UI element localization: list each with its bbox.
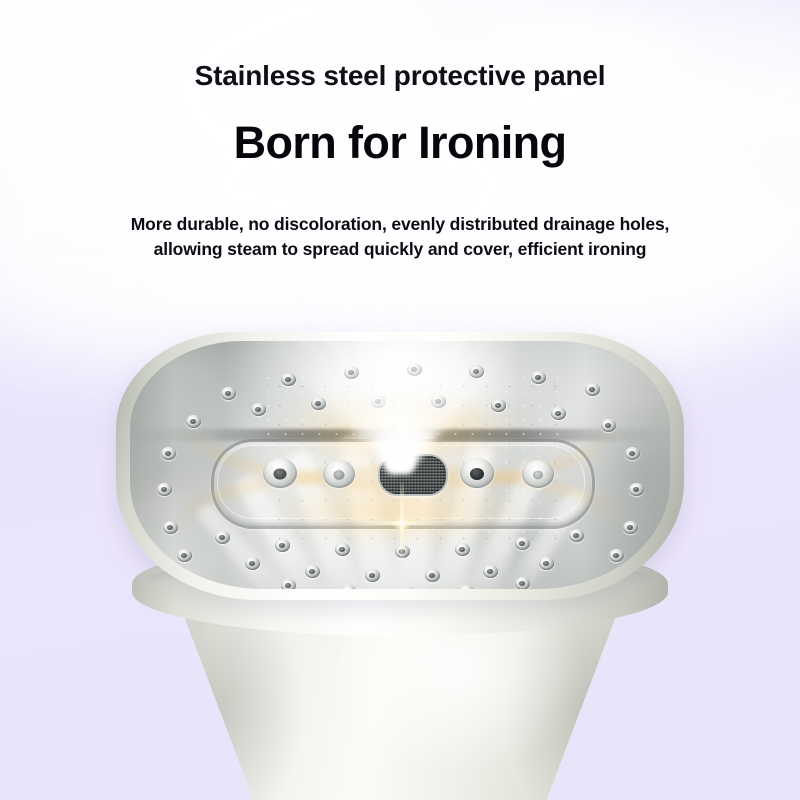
center-steam-vent bbox=[378, 454, 448, 496]
steam-hole bbox=[157, 483, 172, 496]
steam-hole bbox=[311, 397, 326, 410]
steam-hole bbox=[609, 549, 624, 562]
steam-hole bbox=[395, 545, 410, 558]
center-vent-hole bbox=[323, 460, 355, 488]
page-description: More durable, no discoloration, evenly d… bbox=[0, 212, 800, 262]
page-eyebrow-title: Stainless steel protective panel bbox=[0, 60, 800, 92]
steam-hole bbox=[425, 569, 440, 582]
steam-hole bbox=[177, 549, 192, 562]
steam-hole bbox=[245, 557, 260, 570]
steam-hole bbox=[455, 543, 470, 556]
steam-hole bbox=[281, 579, 296, 590]
center-vent-hole bbox=[263, 458, 297, 488]
steam-hole bbox=[515, 537, 530, 550]
steam-hole bbox=[281, 373, 296, 386]
stainless-steel-soleplate bbox=[130, 341, 670, 589]
page-title: Born for Ironing bbox=[0, 117, 800, 169]
center-vent-hole bbox=[460, 458, 494, 488]
steam-hole bbox=[483, 565, 498, 578]
steam-hole bbox=[469, 365, 484, 378]
center-steam-vent-mesh bbox=[380, 456, 446, 494]
steam-hole bbox=[221, 387, 236, 400]
steam-hole bbox=[515, 577, 530, 590]
steam-hole bbox=[335, 543, 350, 556]
steam-hole bbox=[251, 403, 266, 416]
center-vent-hole bbox=[522, 460, 554, 488]
steam-hole bbox=[601, 419, 616, 432]
steam-hole bbox=[629, 483, 644, 496]
steam-hole bbox=[491, 399, 506, 412]
steam-hole bbox=[623, 521, 638, 534]
steam-hole bbox=[625, 447, 640, 460]
steam-hole bbox=[161, 447, 176, 460]
description-line-1: More durable, no discoloration, evenly d… bbox=[0, 212, 800, 237]
steam-hole bbox=[551, 407, 566, 420]
steam-hole bbox=[585, 383, 600, 396]
steam-hole bbox=[186, 415, 201, 428]
steam-hole bbox=[371, 395, 386, 408]
steam-hole bbox=[365, 569, 380, 582]
steam-hole bbox=[344, 366, 359, 379]
steam-hole bbox=[531, 371, 546, 384]
steam-hole bbox=[539, 557, 554, 570]
steam-hole bbox=[569, 529, 584, 542]
steam-hole bbox=[305, 565, 320, 578]
product-marketing-image: Stainless steel protective panel Born fo… bbox=[0, 0, 800, 800]
steam-hole bbox=[431, 395, 446, 408]
steam-hole bbox=[215, 531, 230, 544]
description-line-2: allowing steam to spread quickly and cov… bbox=[0, 237, 800, 262]
steam-hole bbox=[407, 363, 422, 376]
steam-hole bbox=[275, 539, 290, 552]
steam-hole bbox=[163, 521, 178, 534]
